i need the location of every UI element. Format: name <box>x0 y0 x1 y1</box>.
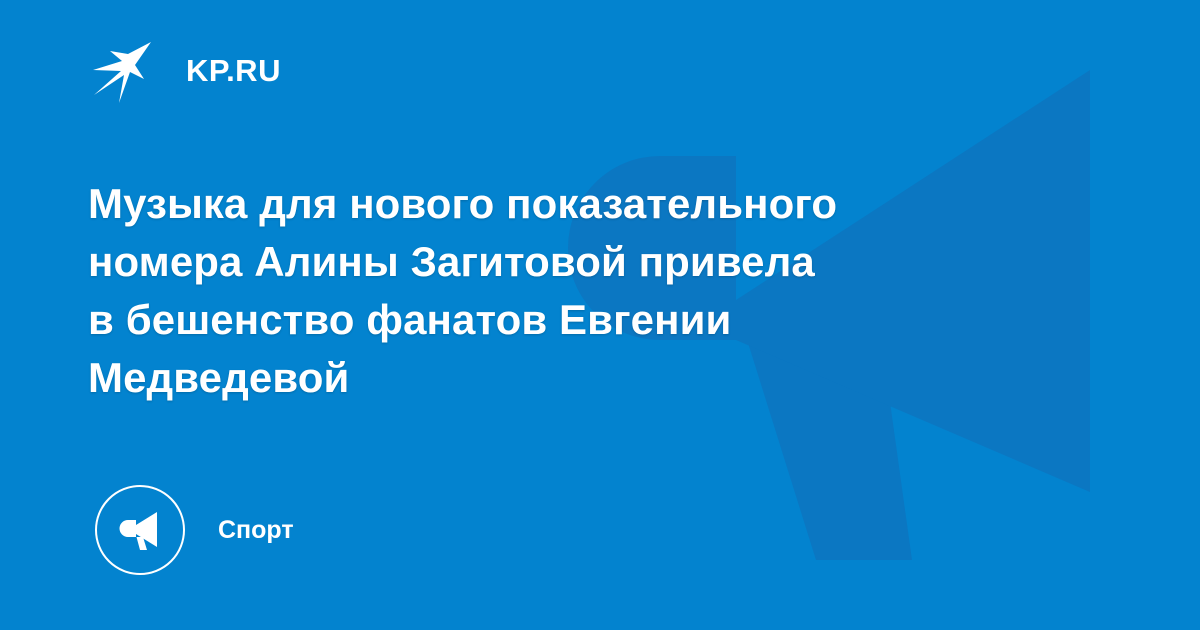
article-headline: Музыка для нового показательного номера … <box>88 175 988 407</box>
headline-line: Музыка для нового показательного <box>88 175 988 233</box>
headline-line: номера Алины Загитовой привела <box>88 233 988 291</box>
site-logo-wordmark[interactable]: KP.RU <box>186 55 281 86</box>
category-label[interactable]: Спорт <box>218 518 294 543</box>
megaphone-icon <box>116 506 164 554</box>
headline-line: Медведевой <box>88 349 988 407</box>
category-badge[interactable]: Спорт <box>95 485 294 575</box>
site-header: KP.RU <box>88 34 281 106</box>
category-icon-circle[interactable] <box>95 485 185 575</box>
swallow-bird-icon[interactable] <box>88 34 160 106</box>
social-share-card: KP.RU Музыка для нового показательного н… <box>0 0 1200 630</box>
headline-line: в бешенство фанатов Евгении <box>88 291 988 349</box>
